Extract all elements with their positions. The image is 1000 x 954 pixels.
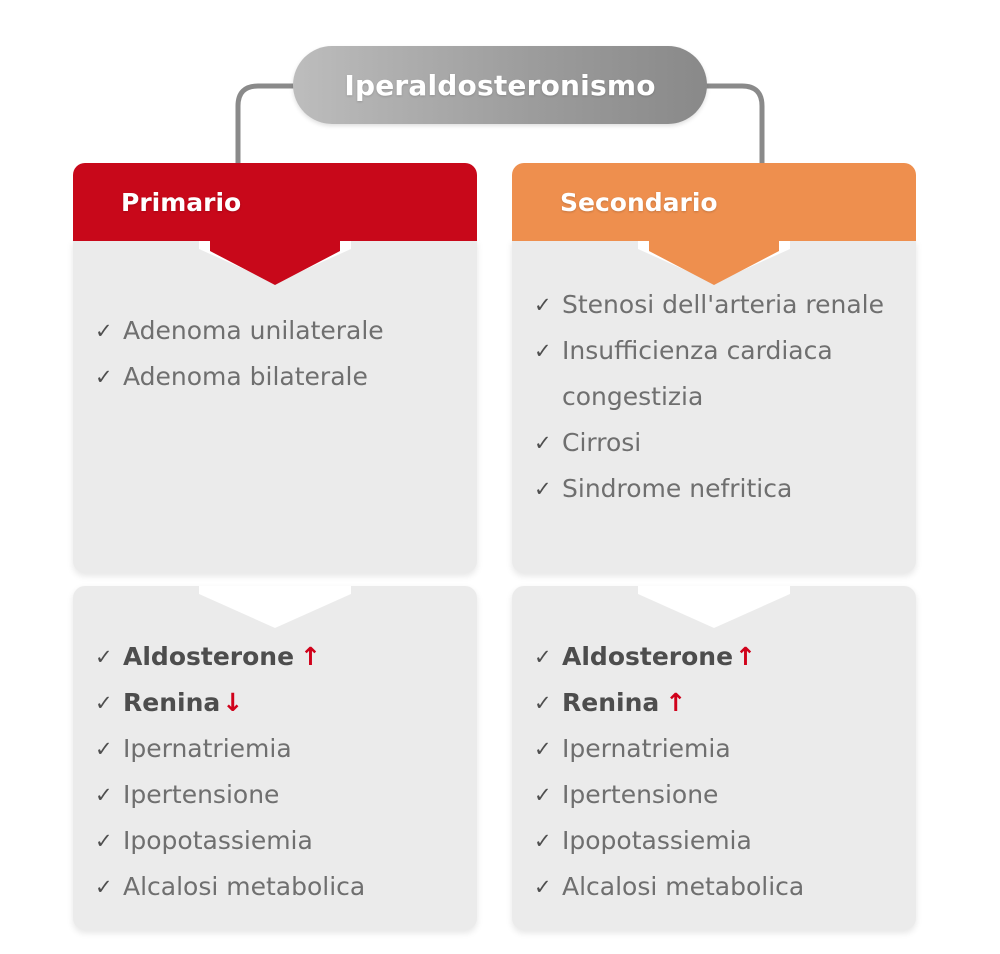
list-item-label: Ipertensione <box>123 772 279 818</box>
diagram-root: Iperaldosteronismo Primario ✓ Adenoma un… <box>0 0 1000 954</box>
list-item-label: Renina <box>562 680 659 726</box>
list-item: ✓ Ipertensione <box>534 772 916 818</box>
branch-secondario: Secondario ✓ Stenosi dell'arteria renale… <box>512 163 916 930</box>
card-gap <box>73 573 477 586</box>
check-icon: ✓ <box>95 772 123 818</box>
list-item-label: Aldosterone <box>123 634 294 680</box>
list-item: ✓ Ipernatriemia <box>95 726 477 772</box>
arrow-up-icon: ↑ <box>735 634 756 680</box>
check-icon: ✓ <box>95 726 123 772</box>
list-item: ✓ Ipopotassiemia <box>534 818 916 864</box>
connector-left <box>238 86 300 168</box>
check-icon: ✓ <box>534 282 562 328</box>
check-icon: ✓ <box>95 864 123 910</box>
check-icon: ✓ <box>534 680 562 726</box>
list-item-label: Renina <box>123 680 220 726</box>
list-item-label: Sindrome nefritica <box>562 466 792 512</box>
check-icon: ✓ <box>534 420 562 466</box>
list-item-label: Alcalosi metabolica <box>123 864 365 910</box>
check-icon: ✓ <box>95 354 123 400</box>
list-item: ✓ Aldosterone ↑ <box>534 634 916 680</box>
list-item: ✓ Adenoma bilaterale <box>95 354 477 400</box>
check-icon: ✓ <box>534 864 562 910</box>
list-item-label: Aldosterone <box>562 634 733 680</box>
list-primario-findings: ✓ Aldosterone ↑ ✓ Renina ↓ ✓ Ipernatriem… <box>73 586 477 910</box>
arrow-down-icon: ↓ <box>222 680 243 726</box>
connector-right <box>700 86 762 168</box>
list-item-label: Insufficienza cardiaca congestizia <box>562 328 916 420</box>
list-item-label: Ipopotassiemia <box>562 818 752 864</box>
check-icon: ✓ <box>534 466 562 512</box>
card-gap <box>512 573 916 586</box>
list-item-label: Cirrosi <box>562 420 641 466</box>
list-secondario-findings: ✓ Aldosterone ↑ ✓ Renina ↑ ✓ Ipernatriem… <box>512 586 916 910</box>
root-title-pill: Iperaldosteronismo <box>293 46 707 124</box>
list-item-label: Ipernatriemia <box>123 726 292 772</box>
card-secondario-findings: ✓ Aldosterone ↑ ✓ Renina ↑ ✓ Ipernatriem… <box>512 586 916 930</box>
list-item-label: Ipernatriemia <box>562 726 731 772</box>
branch-primario: Primario ✓ Adenoma unilaterale ✓ Adenoma… <box>73 163 477 930</box>
header-secondario[interactable]: Secondario <box>512 163 916 241</box>
check-icon: ✓ <box>534 328 562 374</box>
list-item: ✓ Aldosterone ↑ <box>95 634 477 680</box>
list-item-label: Ipertensione <box>562 772 718 818</box>
list-item: ✓ Ipernatriemia <box>534 726 916 772</box>
check-icon: ✓ <box>95 634 123 680</box>
root-title-label: Iperaldosteronismo <box>344 69 655 102</box>
list-item: ✓ Renina ↑ <box>534 680 916 726</box>
arrow-up-icon: ↑ <box>300 634 321 680</box>
check-icon: ✓ <box>534 818 562 864</box>
check-icon: ✓ <box>95 308 123 354</box>
header-primario-label: Primario <box>73 188 241 217</box>
list-item: ✓ Renina ↓ <box>95 680 477 726</box>
list-item: ✓ Ipopotassiemia <box>95 818 477 864</box>
list-item-label: Ipopotassiemia <box>123 818 313 864</box>
arrow-up-icon: ↑ <box>665 680 686 726</box>
list-item: ✓ Adenoma unilaterale <box>95 308 477 354</box>
check-icon: ✓ <box>534 634 562 680</box>
list-item: ✓ Sindrome nefritica <box>534 466 916 512</box>
check-icon: ✓ <box>95 818 123 864</box>
list-item-label: Adenoma bilaterale <box>123 354 368 400</box>
list-item: ✓ Ipertensione <box>95 772 477 818</box>
list-item-label: Alcalosi metabolica <box>562 864 804 910</box>
card-primario-causes: ✓ Adenoma unilaterale ✓ Adenoma bilatera… <box>73 240 477 573</box>
list-item: ✓ Insufficienza cardiaca congestizia <box>534 328 916 420</box>
check-icon: ✓ <box>534 726 562 772</box>
list-item: ✓ Alcalosi metabolica <box>534 864 916 910</box>
list-item: ✓ Cirrosi <box>534 420 916 466</box>
card-primario-findings: ✓ Aldosterone ↑ ✓ Renina ↓ ✓ Ipernatriem… <box>73 586 477 930</box>
list-item: ✓ Stenosi dell'arteria renale <box>534 282 916 328</box>
check-icon: ✓ <box>534 772 562 818</box>
header-secondario-label: Secondario <box>512 188 718 217</box>
list-item: ✓ Alcalosi metabolica <box>95 864 477 910</box>
list-item-label: Stenosi dell'arteria renale <box>562 282 884 328</box>
card-secondario-causes: ✓ Stenosi dell'arteria renale ✓ Insuffic… <box>512 240 916 573</box>
header-primario[interactable]: Primario <box>73 163 477 241</box>
list-item-label: Adenoma unilaterale <box>123 308 384 354</box>
check-icon: ✓ <box>95 680 123 726</box>
